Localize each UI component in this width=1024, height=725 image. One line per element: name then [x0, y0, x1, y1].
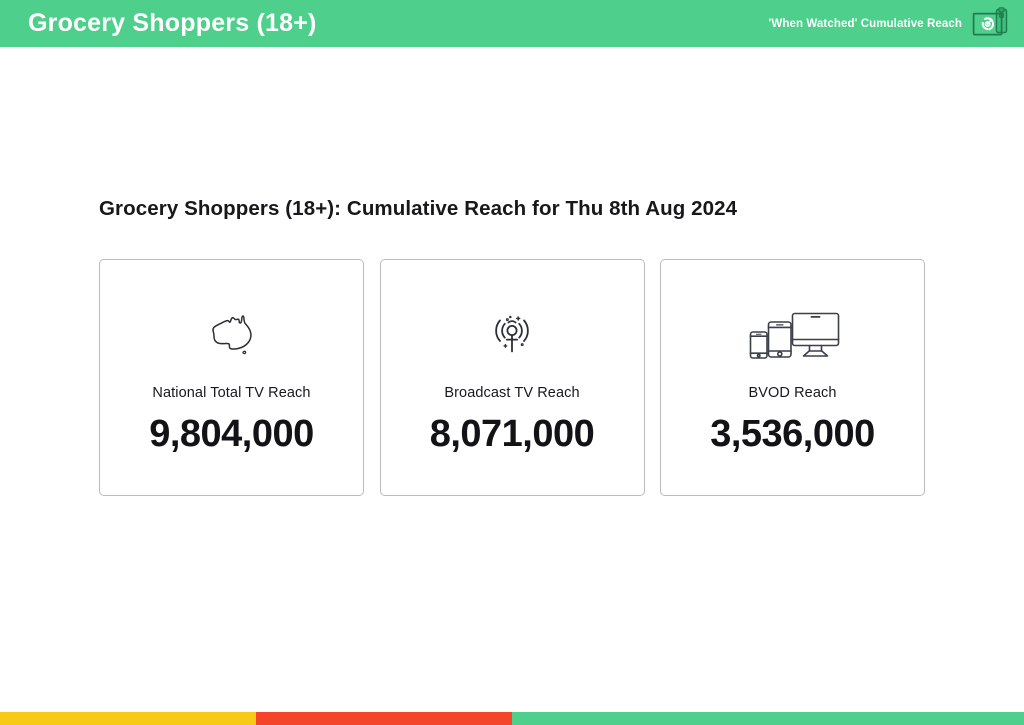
- metric-card-label: National Total TV Reach: [152, 385, 310, 401]
- target-bottle-brand-icon: [972, 7, 1010, 41]
- header-subtitle: 'When Watched' Cumulative Reach: [769, 18, 962, 30]
- metric-card-national-total-tv[interactable]: National Total TV Reach 9,804,000: [99, 259, 364, 496]
- metric-card-label: Broadcast TV Reach: [444, 385, 579, 401]
- page-title: Grocery Shoppers (18+): [28, 9, 317, 38]
- metric-card-broadcast-tv[interactable]: Broadcast TV Reach 8,071,000: [380, 259, 645, 496]
- metric-card-list: National Total TV Reach 9,804,000: [99, 259, 925, 496]
- australia-map-icon: [201, 289, 263, 381]
- devices-screens-icon: [740, 289, 846, 381]
- main-content: Grocery Shoppers (18+): Cumulative Reach…: [0, 47, 1024, 712]
- chart-title: Grocery Shoppers (18+): Cumulative Reach…: [99, 197, 737, 221]
- footer-segment-yellow: [0, 712, 256, 725]
- footer-segment-green: [512, 712, 1024, 725]
- metric-card-value: 8,071,000: [430, 413, 595, 456]
- metric-card-bvod[interactable]: BVOD Reach 3,536,000: [660, 259, 925, 496]
- header-right-group: 'When Watched' Cumulative Reach: [769, 7, 1010, 41]
- footer-accent-bar: [0, 712, 1024, 725]
- dashboard-page: Grocery Shoppers (18+) 'When Watched' Cu…: [0, 0, 1024, 725]
- metric-card-label: BVOD Reach: [748, 385, 836, 401]
- metric-card-value: 3,536,000: [710, 413, 875, 456]
- footer-segment-red: [256, 712, 512, 725]
- broadcast-antenna-icon: [481, 289, 543, 381]
- app-header: Grocery Shoppers (18+) 'When Watched' Cu…: [0, 0, 1024, 47]
- metric-card-value: 9,804,000: [149, 413, 314, 456]
